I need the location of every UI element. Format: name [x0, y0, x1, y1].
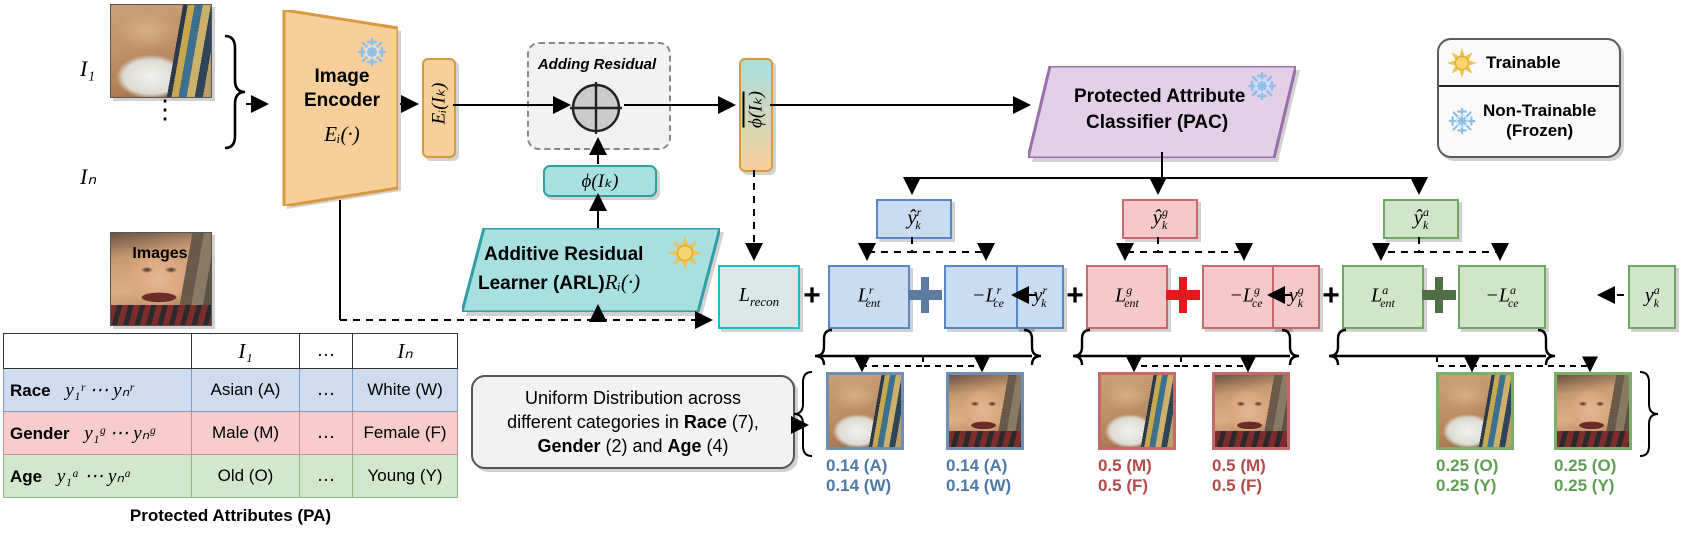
arl-title-line2: Learner (ARL)Rᵢ(·)	[478, 270, 640, 295]
image-encoder-formula: Eᵢ(·)	[292, 122, 392, 147]
output-item-gender-old: 0.5 (M) 0.5 (F)	[1098, 372, 1176, 496]
sun-icon	[668, 236, 702, 270]
ground-truth-box-race: yrk	[1016, 265, 1064, 329]
output-thumbnail	[946, 372, 1024, 450]
prediction-label-age: ŷak	[1414, 205, 1429, 233]
arl-formula: Rᵢ(·)	[605, 270, 640, 294]
table-row: Race y₁ʳ ⋯ yₙʳ Asian (A) … White (W)	[4, 369, 458, 412]
pac-title-line1: Protected Attribute	[1074, 86, 1245, 108]
legend-frozen-label-line1: Non-Trainable	[1483, 101, 1596, 121]
table-cell-value-1: Old (O)	[192, 455, 300, 498]
table-row: Age y₁ᵃ ⋯ yₙᵃ Old (O) … Young (Y)	[4, 455, 458, 498]
table-cell-attribute-name: Age y₁ᵃ ⋯ yₙᵃ	[4, 455, 192, 498]
output-thumbnail	[1212, 372, 1290, 450]
protected-attributes-table: I₁ … Iₙ Race y₁ʳ ⋯ yₙʳ Asian (A) … White…	[3, 333, 458, 526]
prediction-box-age: ŷak	[1383, 199, 1459, 239]
image-encoder-title-line1: Image	[292, 66, 392, 88]
loss-recon-label: Lrecon	[739, 284, 779, 310]
loss-ent-box-gender: Lgent	[1086, 265, 1168, 329]
table-header-row: I₁ … Iₙ	[4, 334, 458, 369]
image-encoder: Image Encoder Eᵢ(·)	[272, 10, 398, 200]
input-image-1	[110, 4, 212, 98]
plus-icon-gender	[1166, 277, 1200, 313]
ground-truth-box-gender: ygk	[1272, 265, 1320, 329]
plus-sign-2: +	[1062, 280, 1088, 312]
image-encoder-title-line2: Encoder	[292, 90, 392, 112]
output-prob-line2: 0.25 (Y)	[1436, 476, 1514, 496]
loss-ent-box-age: Laent	[1342, 265, 1424, 329]
ground-truth-label-race: yrk	[1034, 283, 1047, 311]
output-prob-line1: 0.25 (O)	[1554, 456, 1632, 476]
uniform-distribution-note: Uniform Distribution across different ca…	[471, 375, 795, 469]
loss-ce-label-age: −Lace	[1485, 283, 1518, 311]
plus-icon-race	[908, 277, 942, 313]
legend-box: Trainable Non-Trainable (Frozen)	[1437, 38, 1621, 158]
table-row: Gender y₁ᵍ ⋯ yₙᵍ Male (M) … Female (F)	[4, 412, 458, 455]
input-image-1-label: I₁	[80, 56, 95, 82]
output-prob-line1: 0.5 (M)	[1212, 456, 1290, 476]
table-cell-attribute-name: Race y₁ʳ ⋯ yₙʳ	[4, 369, 192, 412]
images-caption: Images	[110, 245, 210, 263]
prediction-box-gender: ŷgk	[1122, 199, 1198, 239]
output-prob-line1: 0.25 (O)	[1436, 456, 1514, 476]
loss-ce-label-race: −Lrce	[972, 283, 1004, 311]
output-prob-line2: 0.14 (W)	[826, 476, 904, 496]
input-ellipsis: ⋮	[152, 96, 178, 122]
snowflake-icon	[1246, 70, 1278, 102]
table-header-cell-0	[4, 334, 192, 369]
loss-ent-label-age: Laent	[1371, 283, 1395, 311]
loss-ent-box-race: Lrent	[828, 265, 910, 329]
protected-attribute-classifier: Protected Attribute Classifier (PAC)	[1028, 66, 1296, 152]
table-cell-value-1: Male (M)	[192, 412, 300, 455]
table-cell-attribute-name: Gender y₁ᵍ ⋯ yₙᵍ	[4, 412, 192, 455]
prediction-label-race: ŷrk	[907, 205, 920, 233]
table-cell-dots: …	[300, 455, 353, 498]
output-prob-line2: 0.25 (Y)	[1554, 476, 1632, 496]
output-prob-line2: 0.5 (F)	[1212, 476, 1290, 496]
table-header-cell-1: I₁	[192, 334, 300, 369]
output-item-gender-young: 0.5 (M) 0.5 (F)	[1212, 372, 1290, 496]
output-thumbnail	[1554, 372, 1632, 450]
phi-box: ϕ(Iₖ)	[543, 165, 657, 197]
encoder-output-bar: Eᵢ(Iₖ)	[422, 58, 456, 158]
output-prob-line1: 0.14 (A)	[946, 456, 1024, 476]
arl-title-line1: Additive Residual	[484, 244, 643, 266]
table-cell-value-n: Female (F)	[353, 412, 458, 455]
output-thumbnail	[1098, 372, 1176, 450]
plus-circle-icon	[568, 80, 624, 136]
pa-table-caption: Protected Attributes (PA)	[3, 506, 458, 526]
output-item-race-young: 0.14 (A) 0.14 (W)	[946, 372, 1024, 496]
table-cell-value-1: Asian (A)	[192, 369, 300, 412]
loss-ent-label-race: Lrent	[858, 283, 880, 311]
phi-box-label: ϕ(Iₖ)	[582, 170, 619, 193]
table-cell-dots: …	[300, 369, 353, 412]
output-thumbnail	[826, 372, 904, 450]
plus-sign-1: +	[798, 280, 826, 312]
output-prob-line1: 0.5 (M)	[1098, 456, 1176, 476]
prediction-box-race: ŷrk	[876, 199, 952, 239]
ground-truth-box-age: yak	[1628, 265, 1676, 329]
output-item-age-young: 0.25 (O) 0.25 (Y)	[1554, 372, 1632, 496]
ground-truth-label-age: yak	[1645, 283, 1659, 311]
adding-residual-title: Adding Residual	[527, 56, 667, 73]
uniform-note-line2: different categories in Race (7),	[507, 410, 759, 434]
output-prob-line1: 0.14 (A)	[826, 456, 904, 476]
loss-ce-box-age: −Lace	[1458, 265, 1546, 329]
pac-title-line2: Classifier (PAC)	[1086, 112, 1228, 134]
snowflake-icon	[1447, 106, 1477, 136]
table-header-cell-3: Iₙ	[353, 334, 458, 369]
plus-sign-3: +	[1318, 280, 1344, 312]
additive-residual-learner: Additive Residual Learner (ARL)Rᵢ(·)	[462, 228, 720, 306]
encoder-output-label: Eᵢ(Iₖ)	[428, 56, 451, 152]
legend-frozen-label-line2: (Frozen)	[1483, 121, 1596, 141]
sun-icon	[1447, 48, 1477, 78]
output-item-race-old: 0.14 (A) 0.14 (W)	[826, 372, 904, 496]
phi-output-bar: ϕ(Iₖ)	[739, 58, 773, 172]
loss-recon-box: Lrecon	[718, 265, 800, 329]
input-image-n-label: Iₙ	[80, 164, 96, 190]
output-item-age-old: 0.25 (O) 0.25 (Y)	[1436, 372, 1514, 496]
prediction-label-gender: ŷgk	[1153, 205, 1168, 233]
legend-trainable-label: Trainable	[1486, 53, 1561, 73]
phi-output-label: ϕ(Iₖ)	[745, 55, 768, 165]
output-prob-line2: 0.5 (F)	[1098, 476, 1176, 496]
plus-icon-age	[1422, 277, 1456, 313]
table-header-cell-2: …	[300, 334, 353, 369]
output-thumbnail	[1436, 372, 1514, 450]
loss-ce-label-gender: −Lgce	[1229, 283, 1262, 311]
uniform-note-line1: Uniform Distribution across	[525, 386, 741, 410]
snowflake-icon	[356, 36, 388, 68]
uniform-note-line3: Gender (2) and Age (4)	[537, 434, 728, 458]
table-cell-dots: …	[300, 412, 353, 455]
ground-truth-label-gender: ygk	[1289, 283, 1303, 311]
table-cell-value-n: White (W)	[353, 369, 458, 412]
loss-ent-label-gender: Lgent	[1115, 283, 1139, 311]
output-prob-line2: 0.14 (W)	[946, 476, 1024, 496]
table-cell-value-n: Young (Y)	[353, 455, 458, 498]
